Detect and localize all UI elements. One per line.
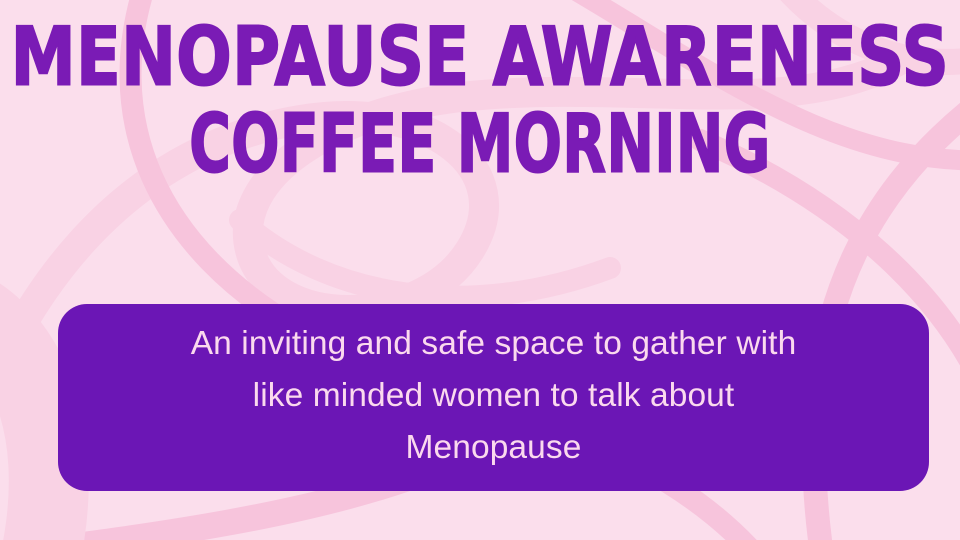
description-line-3: Menopause xyxy=(406,422,582,474)
description-line-1: An inviting and safe space to gather wit… xyxy=(191,318,797,370)
headline-line-1: MENOPAUSE AWARENESS xyxy=(0,18,960,97)
description-line-2: like minded women to talk about xyxy=(253,370,735,422)
page-title: MENOPAUSE AWARENESS COFFEE MORNING xyxy=(0,18,960,166)
poster-canvas: MENOPAUSE AWARENESS COFFEE MORNING An in… xyxy=(0,0,960,540)
description-card: An inviting and safe space to gather wit… xyxy=(58,304,929,491)
headline-line-2: COFFEE MORNING xyxy=(48,105,912,184)
